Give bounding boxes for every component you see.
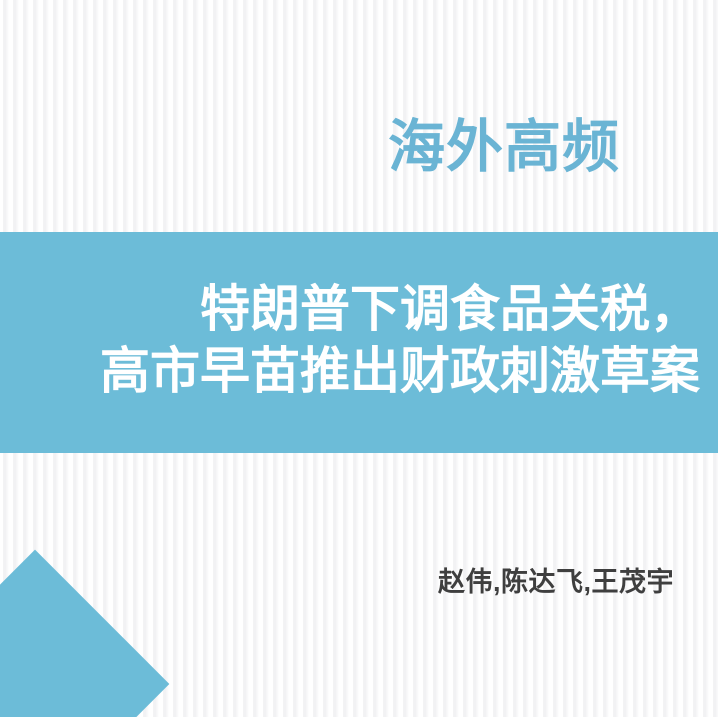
column-kicker: 海外高频 bbox=[0, 118, 620, 178]
article-title: 特朗普下调食品关税， 高市早苗推出财政刺激草案 bbox=[0, 278, 700, 402]
title-line-1: 特朗普下调食品关税， bbox=[0, 278, 700, 340]
corner-decoration-group bbox=[0, 487, 230, 717]
title-line-2: 高市早苗推出财政刺激草案 bbox=[0, 340, 700, 402]
blue-triangle-icon bbox=[0, 550, 169, 717]
title-band: 特朗普下调食品关税， 高市早苗推出财政刺激草案 bbox=[0, 232, 718, 453]
article-cover-poster: 海外高频 特朗普下调食品关税， 高市早苗推出财政刺激草案 赵伟,陈达飞,王茂宇 bbox=[0, 0, 718, 717]
author-byline: 赵伟,陈达飞,王茂宇 bbox=[438, 560, 674, 599]
